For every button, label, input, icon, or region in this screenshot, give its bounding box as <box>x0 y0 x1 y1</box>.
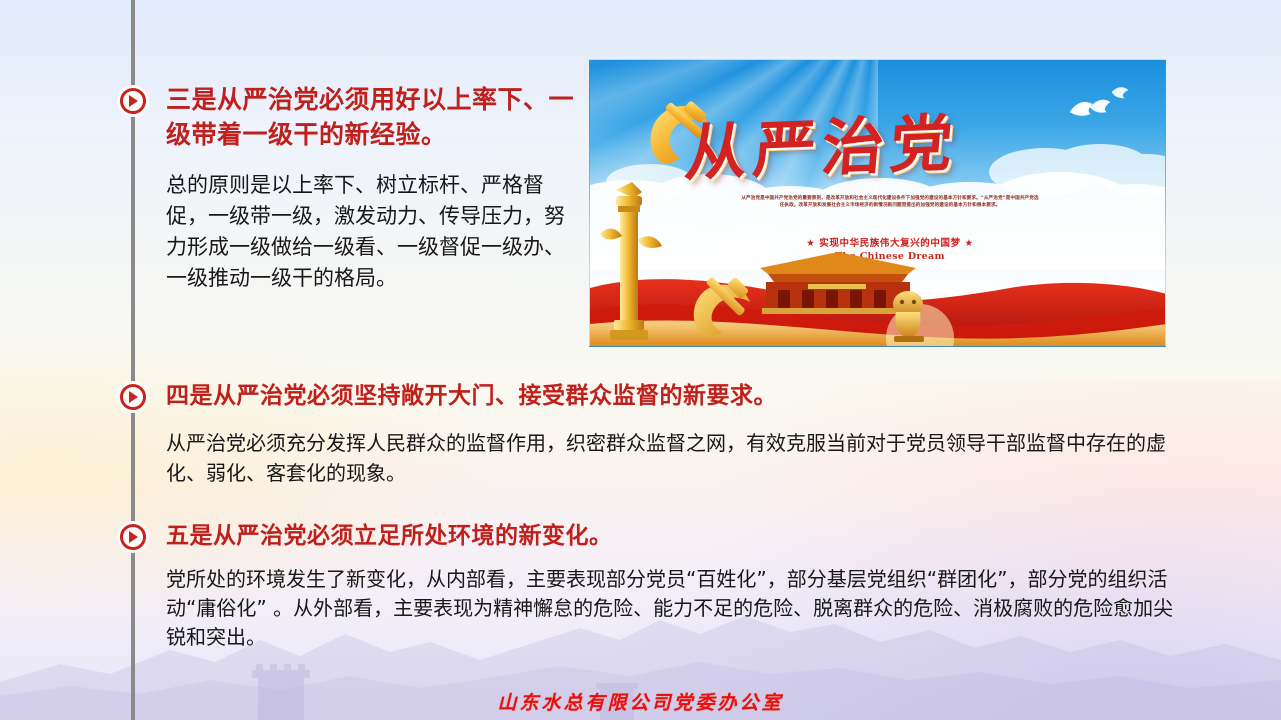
marker-triangle <box>129 391 138 403</box>
play-circle-icon[interactable] <box>117 381 149 413</box>
huabiao-column-icon <box>596 180 668 340</box>
section-heading-3: 三是从严治党必须用好以上率下、一级带着一级干的新经验。 <box>166 82 586 152</box>
section-body-5: 党所处的环境发生了新变化，从内部看，主要表现部分党员“百姓化”，部分基层党组织“… <box>166 565 1181 652</box>
marker-triangle <box>129 95 138 107</box>
marker-triangle <box>129 531 138 543</box>
section-heading-5: 五是从严治党必须立足所处环境的新变化。 <box>166 520 786 552</box>
section-body-3: 总的原则是以上率下、树立标杆、严格督促，一级带一级，激发动力、传导压力，努力形成… <box>166 170 566 294</box>
hammer-and-sickle-ground-icon <box>686 276 764 344</box>
footer-organization-name: 山东水总有限公司党委办公室 <box>0 688 1281 715</box>
play-circle-icon[interactable] <box>117 521 149 553</box>
poster-paragraph: 从严治党是中国共产党治党的重要原则，是改革开放和社会主义现代化建设条件下加强党的… <box>740 195 1040 210</box>
section-heading-4: 四是从严治党必须坚持敞开大门、接受群众监督的新要求。 <box>166 380 926 412</box>
section-body-4: 从严治党必须充分发挥人民群众的监督作用，织密群众监督之网，有效克服当前对于党员领… <box>166 428 1176 488</box>
poster-title: 从严治党 <box>681 90 1091 201</box>
play-circle-icon[interactable] <box>117 85 149 117</box>
poster-image: 从严治党 从严治党是中国共产党治党的重要原则，是改革开放和社会主义现代化建设条件… <box>589 59 1166 347</box>
lion-statue-icon <box>882 286 936 342</box>
